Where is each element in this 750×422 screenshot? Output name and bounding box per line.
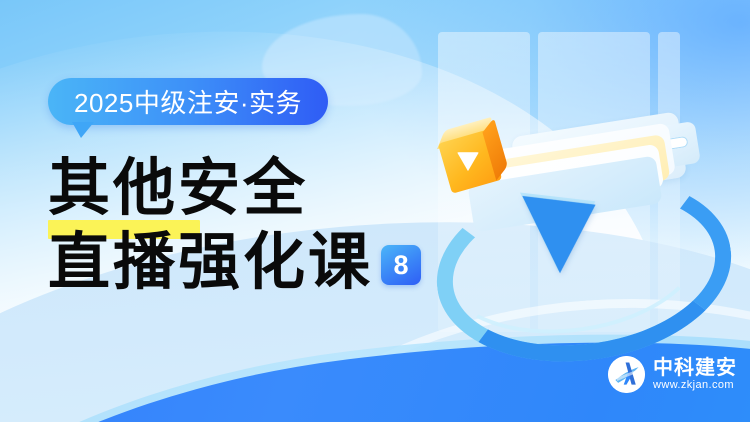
headline-block: 其他安全 直播强化课 8 [48, 152, 478, 300]
headline-line1: 其他安全 [48, 152, 478, 226]
course-promo-banner: 2025中级注安·实务 其他安全 直播强化课 8 中科建安 [0, 0, 750, 422]
headline-line2: 直播强化课 [48, 226, 373, 300]
brand-logo[interactable]: 中科建安 www.zkjan.com [608, 356, 737, 393]
course-category-badge: 2025中级注安·实务 [48, 78, 328, 125]
headline-line1-row: 其他安全 [48, 152, 478, 226]
brand-text-block: 中科建安 www.zkjan.com [653, 358, 737, 391]
brand-url: www.zkjan.com [653, 380, 737, 391]
badge-label: 2025中级注安·实务 [74, 83, 302, 120]
badge-tail-pointer [72, 122, 94, 138]
episode-number-badge: 8 [381, 245, 421, 285]
brand-name: 中科建安 [653, 358, 737, 378]
badge-pill: 2025中级注安·实务 [48, 78, 328, 125]
zkjan-logo-icon [608, 356, 645, 393]
headline-line2-row: 直播强化课 8 [48, 226, 478, 300]
episode-number: 8 [394, 252, 409, 279]
folder-with-circular-arrow-illustration [430, 0, 750, 360]
